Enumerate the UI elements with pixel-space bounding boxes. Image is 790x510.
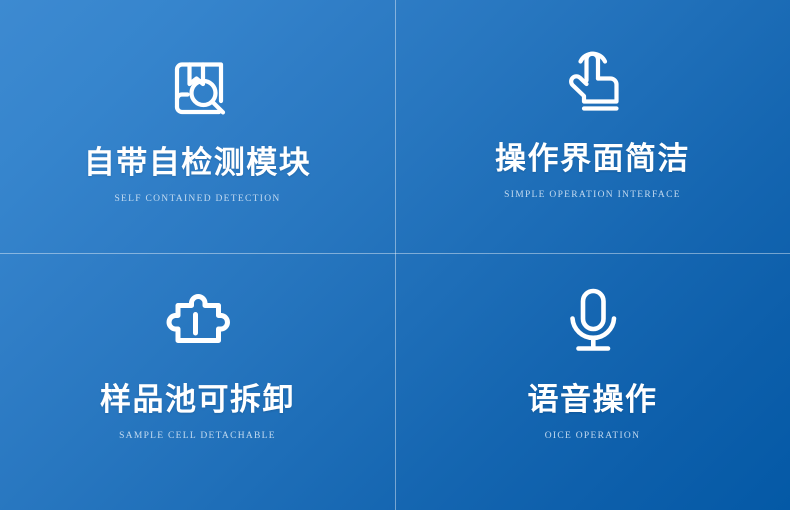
- feature-subtitle: SELF CONTAINED DETECTION: [114, 194, 280, 204]
- feature-subtitle: OICE OPERATION: [545, 431, 641, 441]
- microphone-icon: [557, 285, 629, 357]
- feature-grid: 自带自检测模块 SELF CONTAINED DETECTION 操作界面简洁 …: [0, 0, 790, 510]
- feature-subtitle: SAMPLE CELL DETACHABLE: [119, 431, 276, 441]
- touch-hand-icon: [557, 44, 629, 116]
- feature-subtitle: SIMPLE OPERATION INTERFACE: [504, 190, 681, 200]
- feature-card-voice-operation: 语音操作 OICE OPERATION: [395, 253, 790, 510]
- puzzle-piece-icon: [162, 285, 234, 357]
- feature-title: 语音操作: [528, 383, 658, 417]
- feature-title: 样品池可拆卸: [100, 383, 295, 417]
- feature-card-simple-operation-interface: 操作界面简洁 SIMPLE OPERATION INTERFACE: [395, 0, 790, 253]
- feature-card-self-contained-detection: 自带自检测模块 SELF CONTAINED DETECTION: [0, 0, 395, 253]
- feature-highlights-panel: 自带自检测模块 SELF CONTAINED DETECTION 操作界面简洁 …: [0, 0, 790, 510]
- feature-title: 自带自检测模块: [84, 146, 312, 180]
- book-magnifier-icon: [162, 52, 234, 124]
- feature-title: 操作界面简洁: [495, 142, 690, 176]
- feature-card-sample-cell-detachable: 样品池可拆卸 SAMPLE CELL DETACHABLE: [0, 253, 395, 510]
